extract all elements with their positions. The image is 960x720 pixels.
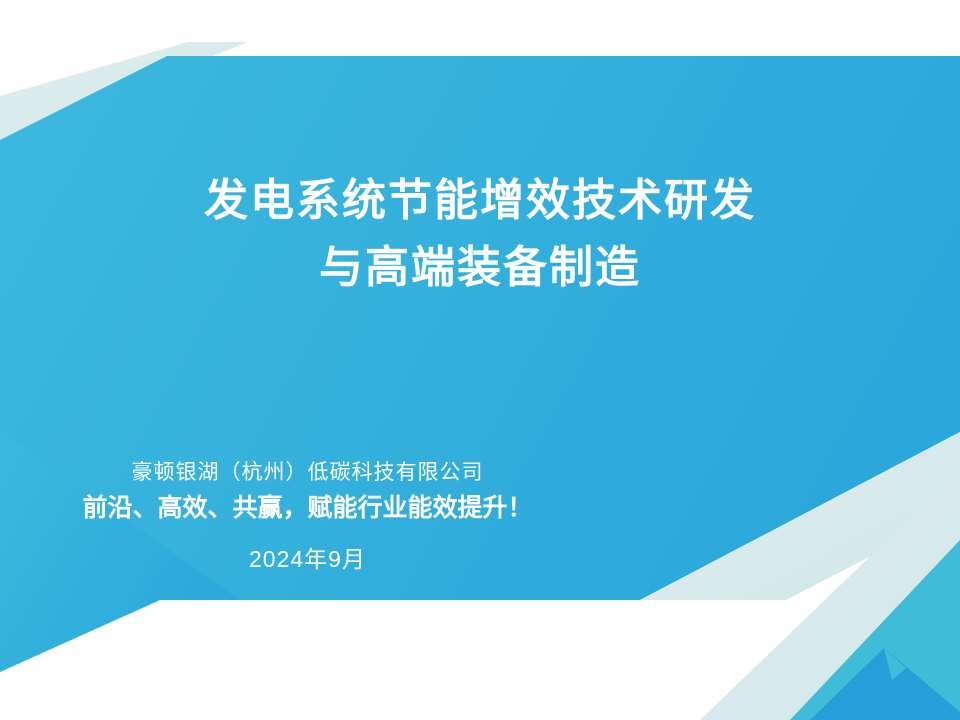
slide-title: 发电系统节能增效技术研发 与高端装备制造 [0,168,960,302]
presentation-date: 2024年9月 [0,542,615,578]
slide-footer: 豪顿银湖（杭州）低碳科技有限公司 前沿、高效、共赢，赋能行业能效提升！ 2024… [0,458,615,578]
slide-text-layer: 发电系统节能增效技术研发 与高端装备制造 豪顿银湖（杭州）低碳科技有限公司 前沿… [0,0,960,720]
title-line-2: 与高端装备制造 [0,235,960,302]
title-slide: 发电系统节能增效技术研发 与高端装备制造 豪顿银湖（杭州）低碳科技有限公司 前沿… [0,0,960,720]
title-line-1: 发电系统节能增效技术研发 [0,168,960,235]
company-slogan: 前沿、高效、共赢，赋能行业能效提升！ [0,488,615,528]
company-name: 豪顿银湖（杭州）低碳科技有限公司 [0,458,615,488]
